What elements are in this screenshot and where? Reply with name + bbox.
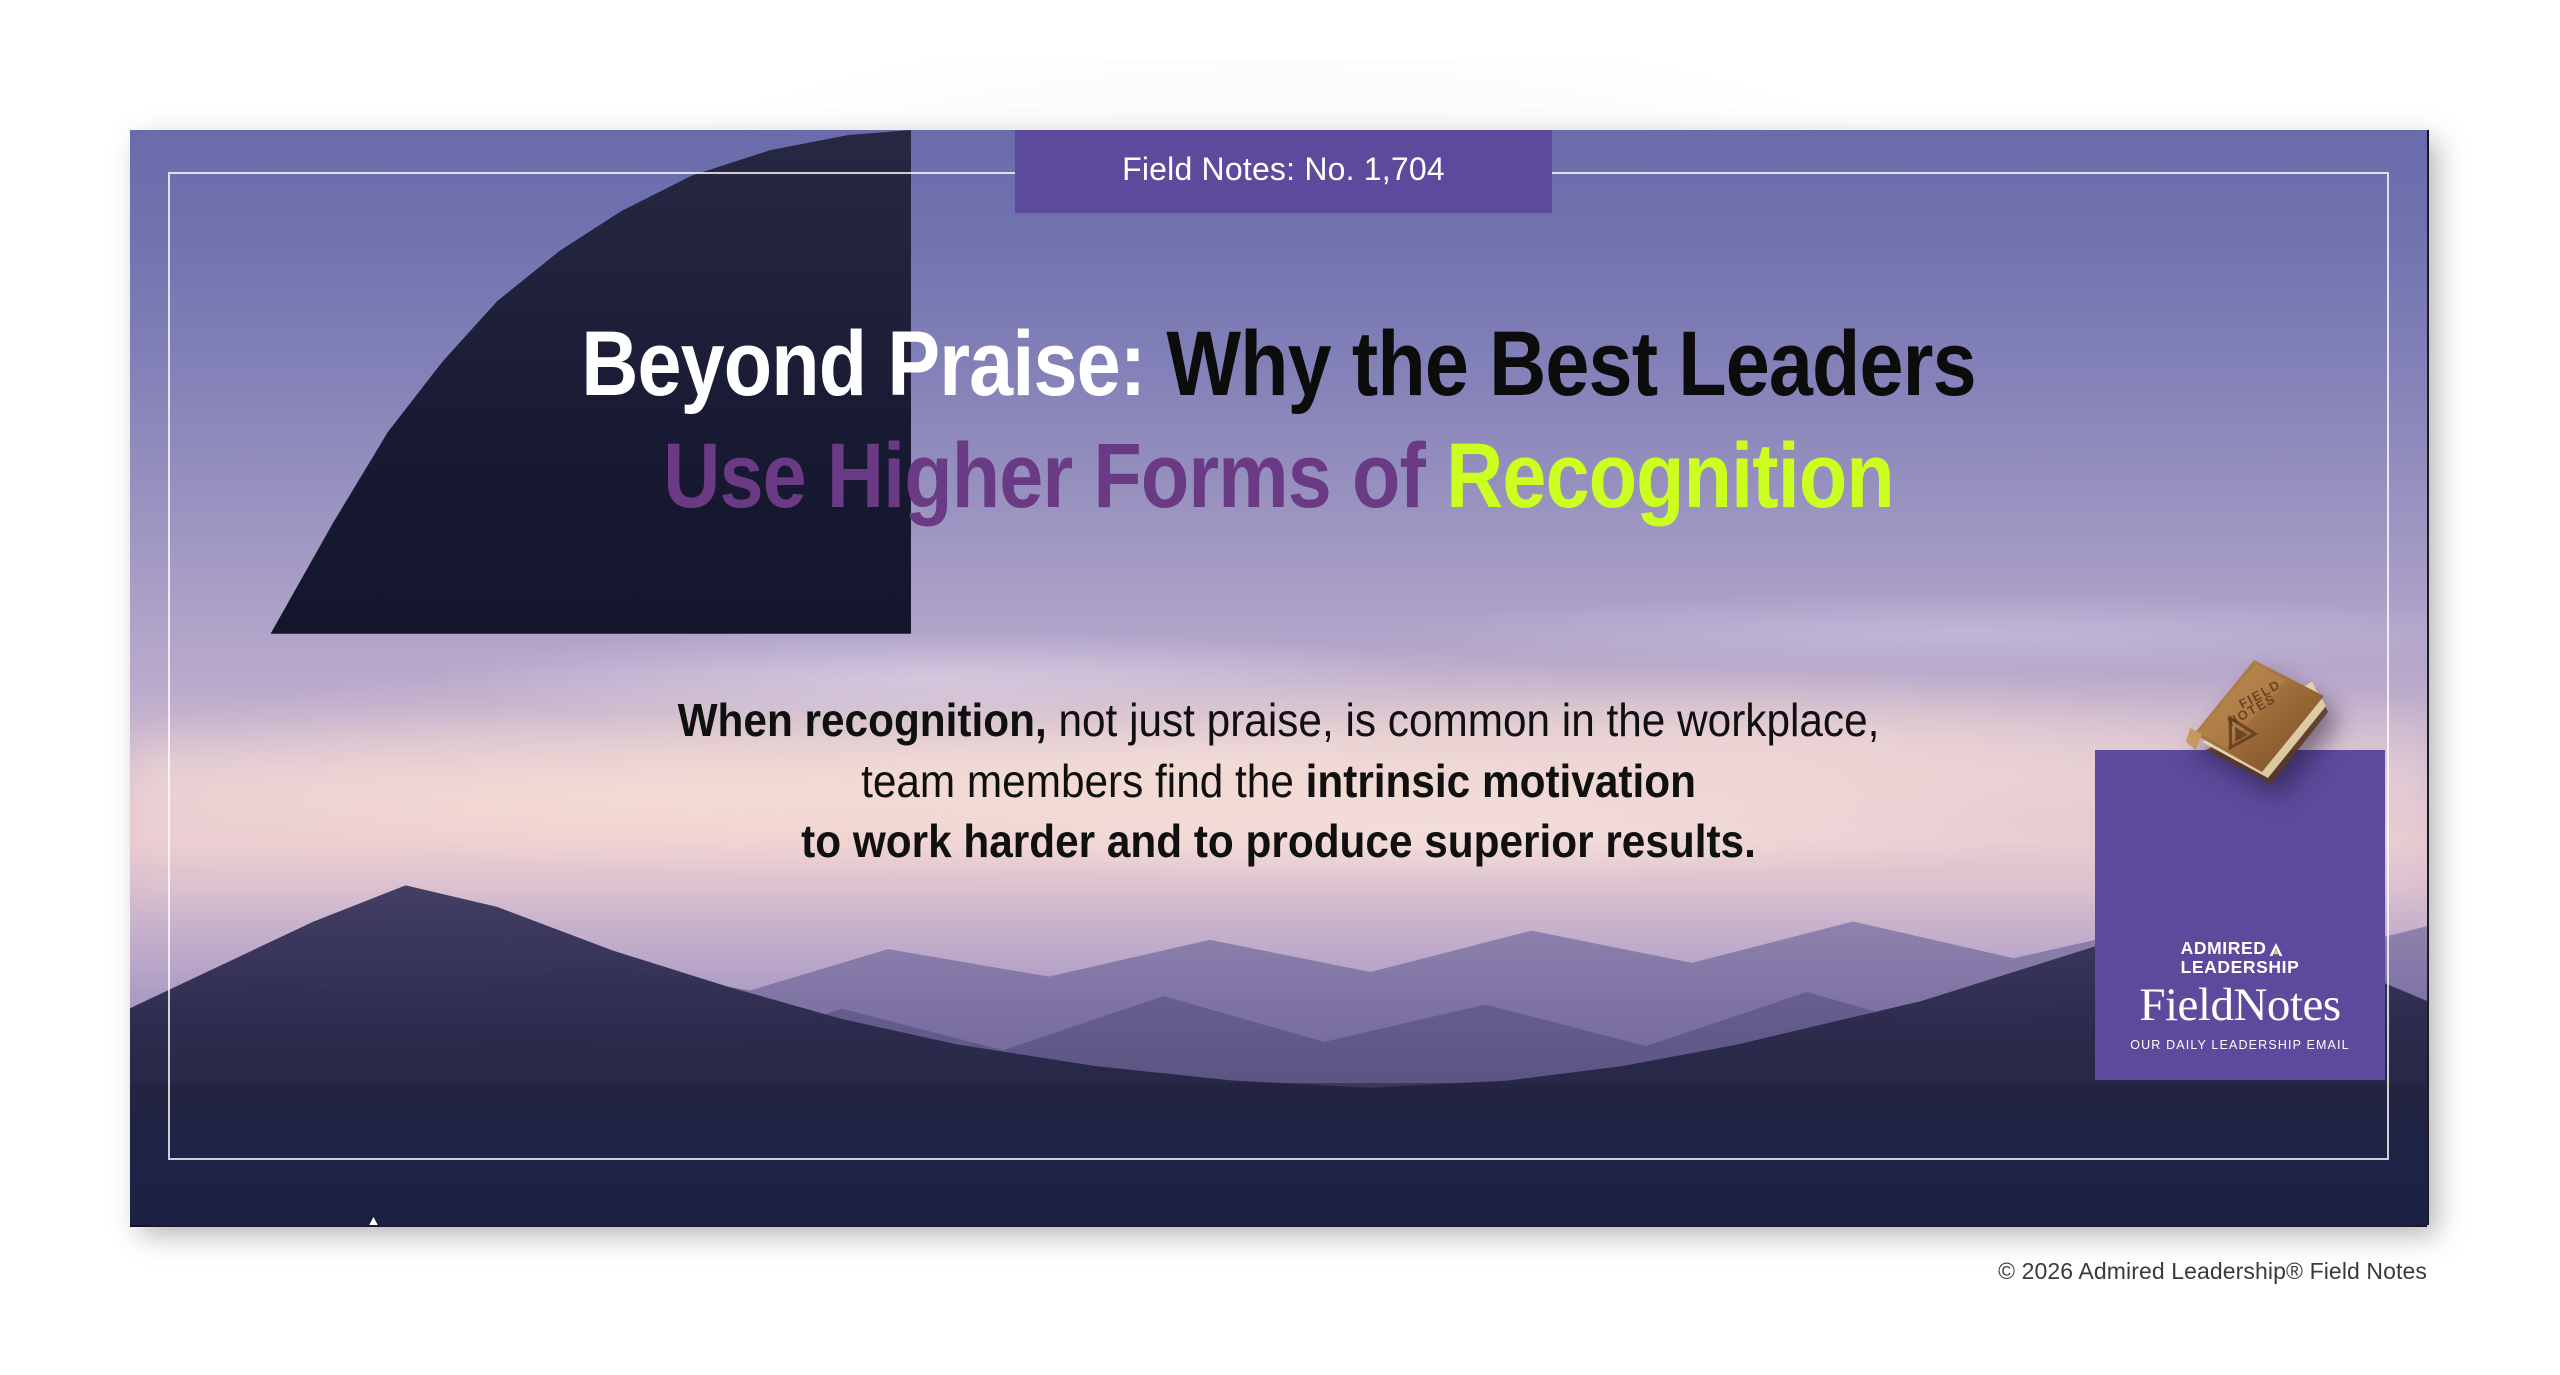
headline-line-1-white: Beyond Praise: [581,313,1166,415]
screenshot-canvas: Field Notes: No. 1,704 Beyond Praise: Wh… [0,0,2560,1375]
body-copy-line-1: When recognition, not just praise, is co… [222,690,2335,751]
body-copy-line-3: to work harder and to produce superior r… [222,811,2335,872]
fieldnotes-wordmark-field: Field [2139,979,2233,1031]
issue-number-badge: Field Notes: No. 1,704 [1015,130,1552,213]
fieldnotes-wordmark-notes: Notes [2233,979,2340,1031]
admired-leadership-lockup: ADMIRED LEADERSHIP [2181,939,2300,977]
headline-block: Beyond Praise: Why the Best Leaders Use … [130,318,2427,522]
valley-floor [130,1083,2427,1225]
issue-number-label: Field Notes: No. 1,704 [1122,151,1445,188]
promo-tagline: OUR DAILY LEADERSHIP EMAIL [2095,1038,2385,1052]
body-copy-line-1-bold: When recognition, [678,694,1047,746]
fieldnotes-wordmark: FieldNotes [2095,982,2385,1029]
body-copy-block: When recognition, not just praise, is co… [130,690,2427,872]
headline-line-1-black: Why the Best Leaders [1166,313,1975,415]
body-copy-line-3-bold: to work harder and to produce superior r… [801,815,1756,867]
admired-leadership-triangle-logo-icon [326,1215,421,1225]
headline-line-2: Use Higher Forms of Recognition [291,430,2266,522]
triangle-logo-icon [2269,942,2283,956]
body-copy-line-2-bold: intrinsic motivation [1306,755,1696,807]
brand-line-2: LEADERSHIP [2181,958,2300,977]
body-copy-line-2: team members find the intrinsic motivati… [222,751,2335,812]
brand-line-1: ADMIRED [2181,939,2267,958]
headline-line-1: Beyond Praise: Why the Best Leaders [291,318,2266,410]
headline-line-2-lime: Recognition [1446,425,1894,527]
body-copy-line-2-regular: team members find the [861,755,1306,807]
headline-line-2-purple: Use Higher Forms of [663,425,1446,527]
promo-card-content: ADMIRED LEADERSHIP FieldNotes OUR DAILY … [2095,939,2385,1052]
copyright-notice: © 2026 Admired Leadership® Field Notes [0,1258,2427,1285]
body-copy-line-1-regular: not just praise, is common in the workpl… [1047,694,1880,746]
hero-artwork: Field Notes: No. 1,704 Beyond Praise: Wh… [130,130,2427,1225]
field-notes-notebook-image: FIELD NOTES [2176,654,2362,804]
brand-line-1-row: ADMIRED [2181,939,2300,958]
